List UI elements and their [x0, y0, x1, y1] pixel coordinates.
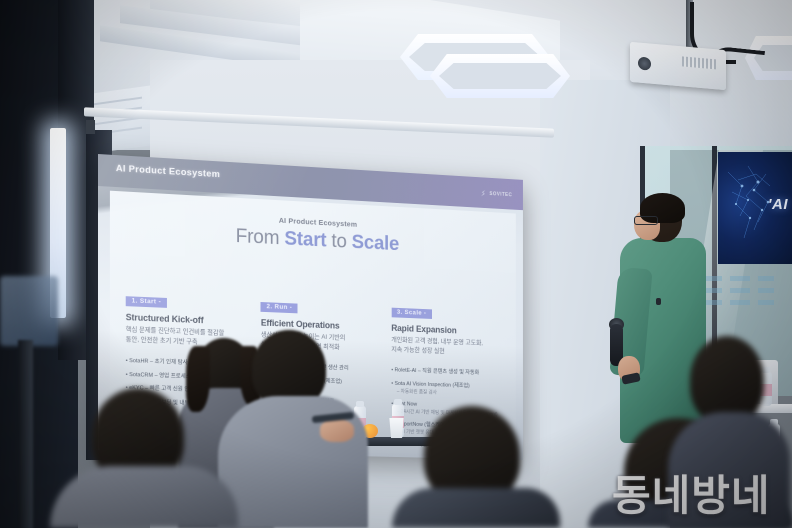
projector-lens: [638, 57, 651, 71]
brand-logo-text: SOVITEC: [489, 191, 512, 198]
list-item: • RoletE-AI – 직원 콘텐츠 생성 및 자동화: [391, 367, 503, 378]
tripod-pole: [18, 340, 33, 528]
watermark: 동네방네: [612, 462, 771, 523]
projection-screen-bracket: [86, 120, 95, 134]
lapel-microphone: [656, 298, 661, 305]
column-badge: 2. Run -: [261, 302, 298, 314]
presenter-eyeglasses: [634, 216, 658, 225]
hexagon-light-fixture: [430, 54, 570, 98]
wall-display-panel: 'AI: [718, 152, 792, 264]
column-badge: 3. Scale -: [391, 307, 431, 319]
slide-header-title: AI Product Ecosystem: [116, 163, 220, 180]
ceiling-projector: [630, 42, 726, 90]
headline-accent-scale: Scale: [352, 231, 399, 255]
headline-mid: to: [326, 230, 351, 253]
sovitec-mark-icon: [479, 189, 487, 198]
column-heading: Structured Kick-off: [126, 312, 246, 327]
presentation-room-photo: AI Product Ecosystem SOVITEC AI Product …: [0, 0, 792, 528]
column-heading: Rapid Expansion: [391, 323, 503, 337]
headline-accent-start: Start: [284, 228, 326, 252]
brand-logo: SOVITEC: [479, 189, 513, 200]
camera-tripod: [0, 276, 58, 528]
headline-pre: From: [236, 225, 285, 249]
list-item: • Sota AI Vision Inspection (제조업) – 자동화된…: [391, 380, 503, 398]
column-subtitle: 개인화된 고객 경험, 내부 운영 고도화, 지속 가능한 성장 실현: [391, 336, 503, 359]
column-badge: 1. Start -: [126, 296, 167, 308]
column-heading: Efficient Operations: [261, 318, 377, 332]
wall-display-text: 'AI: [768, 196, 788, 213]
camera-monitor: [0, 276, 58, 346]
bullet-text: • RoletE-AI – 직원 콘텐츠 생성 및 자동화: [391, 367, 503, 378]
